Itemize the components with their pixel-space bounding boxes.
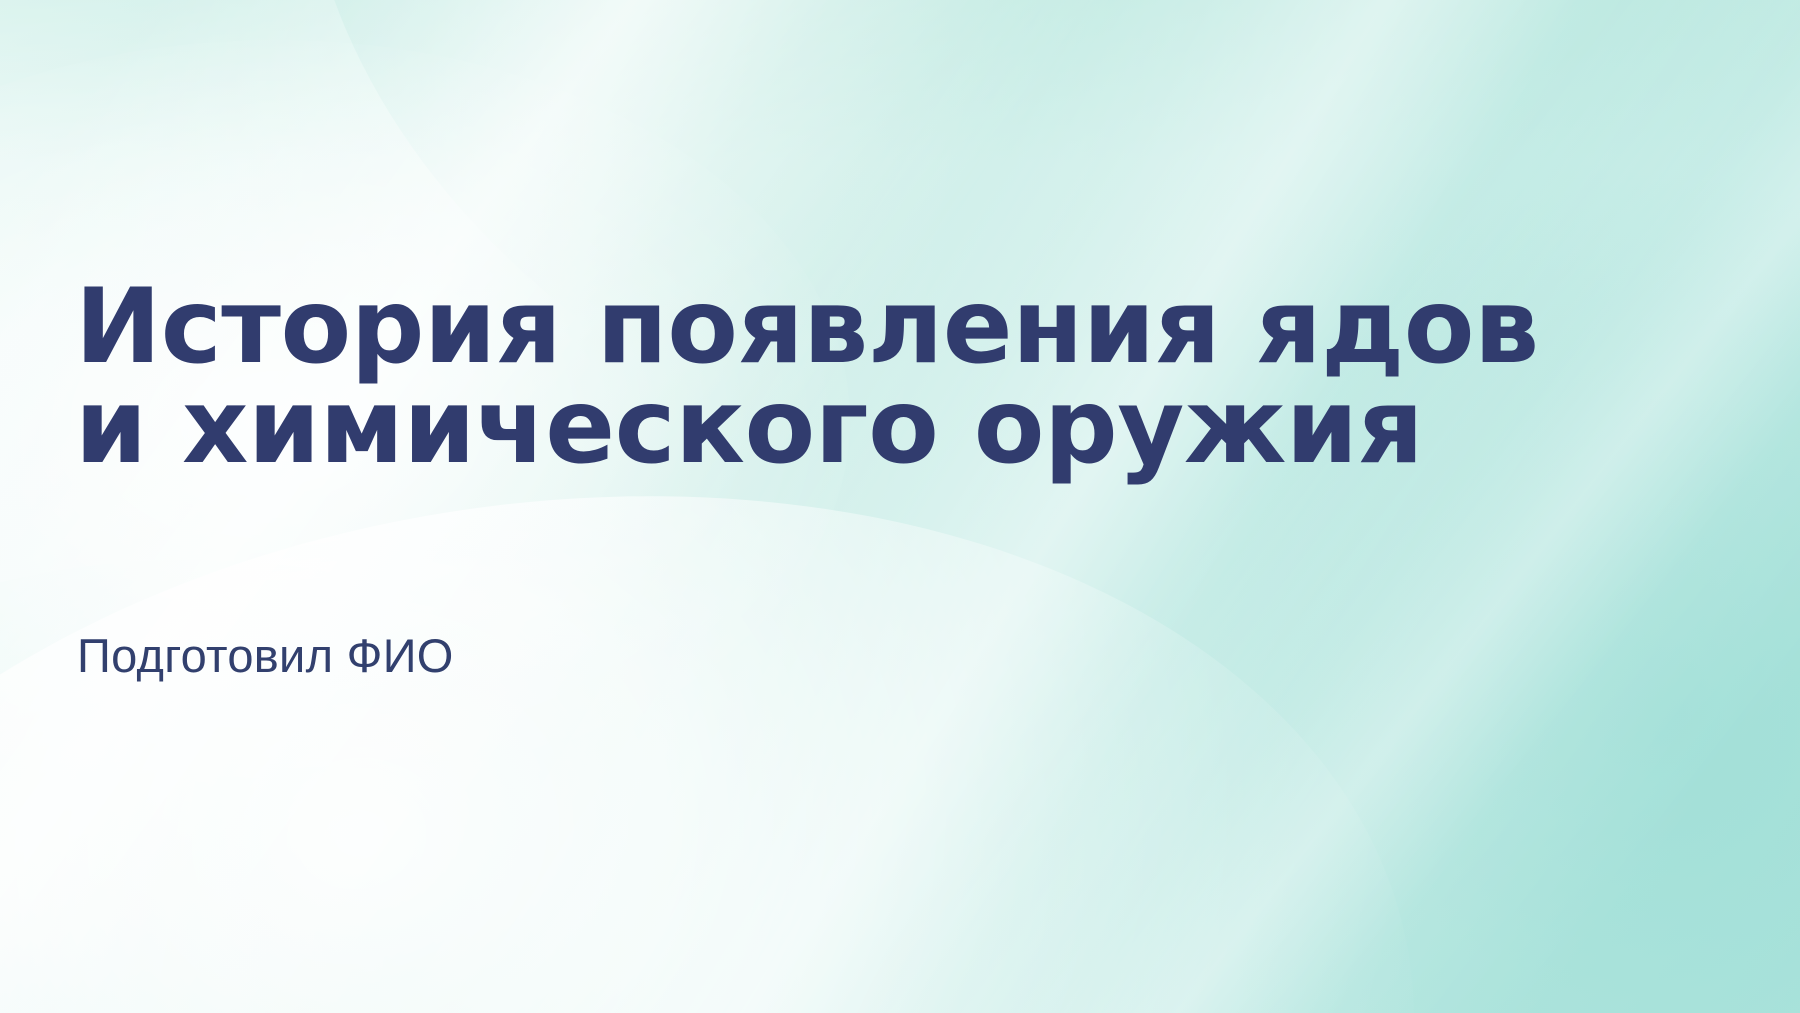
slide-content: История появления ядов и химического ору… xyxy=(75,0,1715,1013)
title-slide: История появления ядов и химического ору… xyxy=(0,0,1800,1013)
slide-subtitle-author: Подготовил ФИО xyxy=(77,628,454,684)
slide-title: История появления ядов и химического ору… xyxy=(75,277,1675,477)
